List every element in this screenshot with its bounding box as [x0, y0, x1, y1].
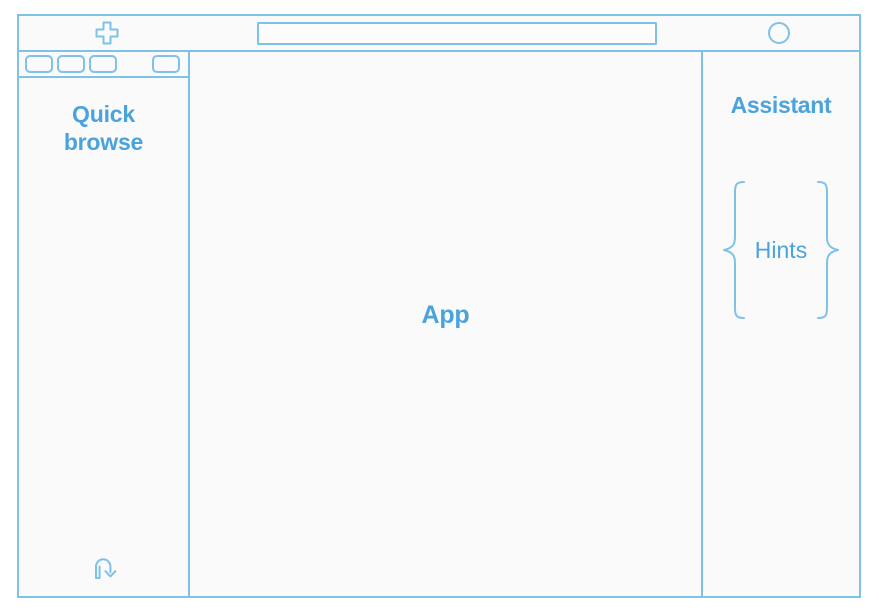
tab-chip-2[interactable]	[57, 55, 85, 73]
sidebar-footer	[19, 552, 188, 586]
app-canvas[interactable]: App	[190, 52, 703, 596]
left-curly-brace-icon	[719, 179, 749, 321]
browser-chrome-bar	[19, 16, 859, 52]
hints-block: Hints	[703, 179, 859, 321]
tab-chip-3[interactable]	[89, 55, 117, 73]
app-label: App	[422, 301, 470, 330]
browser-window-frame: Quick browse App	[17, 14, 861, 598]
address-input[interactable]	[257, 22, 657, 45]
hints-label: Hints	[749, 237, 813, 264]
address-bar-zone	[194, 16, 699, 50]
tab-chip-4[interactable]	[152, 55, 180, 73]
sidebar-tab-strip	[19, 52, 188, 78]
quick-browse-title-line-2: browse	[34, 128, 174, 156]
quick-browse-title-line-1: Quick	[34, 100, 174, 128]
assistant-panel: Assistant Hints	[703, 52, 859, 596]
u-turn-arrow-icon[interactable]	[87, 552, 121, 586]
sidebar-content: Quick browse	[19, 78, 188, 596]
new-tab-zone	[19, 16, 194, 50]
assistant-title: Assistant	[731, 92, 832, 119]
tab-chip-1[interactable]	[25, 55, 53, 73]
quick-browse-title: Quick browse	[34, 100, 174, 156]
window-body: Quick browse App	[19, 52, 859, 596]
avatar-zone	[699, 16, 859, 50]
right-curly-brace-icon	[813, 179, 843, 321]
circle-avatar-icon[interactable]	[768, 22, 790, 44]
plus-icon[interactable]	[94, 20, 120, 46]
quick-browse-sidebar: Quick browse	[19, 52, 190, 596]
